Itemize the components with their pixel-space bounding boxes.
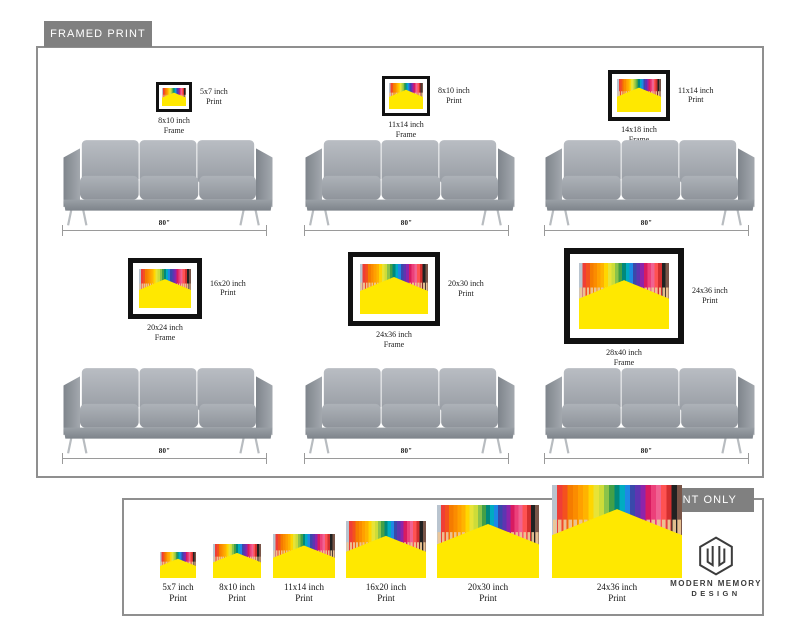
print-only-size-label: 8x10 inchPrint [219,582,255,604]
dimension-label: 80" [544,219,749,227]
frame-mat [353,257,435,321]
picture-frame [348,252,440,326]
print-size-label: 11x14 inchPrint [678,86,713,106]
print-size-label: 5x7 inchPrint [200,87,228,107]
sofa-width-dimension: 80" [544,224,749,236]
dimension-label: 80" [304,447,509,455]
frame-mat [133,263,197,314]
print-only-size-label: 5x7 inchPrint [162,582,193,604]
sofa-width-dimension: 80" [304,224,509,236]
artwork-colored-pencils [552,485,682,578]
picture-frame [608,70,670,121]
frame-mat [612,74,666,117]
dimension-label: 80" [304,219,509,227]
print-only-item[interactable]: 24x36 inchPrint [552,485,682,604]
dimension-label: 80" [544,447,749,455]
print-size-label: 8x10 inchPrint [438,86,470,106]
artwork-colored-pencils [139,269,191,308]
artwork-colored-pencils [389,83,423,109]
artwork-colored-pencils [346,521,426,578]
print-size-label: 16x20 inchPrint [210,279,246,299]
artwork-colored-pencils [617,79,661,112]
artwork-colored-pencils [579,263,669,329]
print-only-item[interactable]: 8x10 inchPrint [213,544,261,604]
print-only-item[interactable]: 11x14 inchPrint [273,534,335,604]
dimension-bar [62,230,267,231]
frame-mat [385,79,427,113]
print-only-item[interactable]: 5x7 inchPrint [160,552,196,604]
print-only-size-label: 16x20 inchPrint [366,582,406,604]
print-size-label: 24x36 inchPrint [692,286,728,306]
frame-size-label: 24x36 inchFrame [362,330,426,350]
print-only-item[interactable]: 20x30 inchPrint [437,505,539,604]
picture-frame [564,248,684,344]
artwork-colored-pencils [273,534,335,578]
framed-print-tab: FRAMED PRINT [44,21,152,47]
frame-mat [570,254,678,338]
print-only-item[interactable]: 16x20 inchPrint [346,521,426,604]
artwork-colored-pencils [437,505,539,578]
picture-frame [382,76,430,116]
dimension-label: 80" [62,447,267,455]
dimension-bar [544,458,749,459]
sofa-width-dimension: 80" [544,452,749,464]
print-only-size-label: 20x30 inchPrint [468,582,508,604]
artwork-colored-pencils [160,552,196,578]
picture-frame [156,82,192,112]
sofa-width-dimension: 80" [62,452,267,464]
hexagon-monogram-icon [696,536,736,576]
artwork-colored-pencils [213,544,261,578]
dimension-label: 80" [62,219,267,227]
sofa-width-dimension: 80" [304,452,509,464]
dimension-bar [544,230,749,231]
artwork-colored-pencils [162,88,186,106]
dimension-bar [304,458,509,459]
print-only-size-label: 24x36 inchPrint [597,582,637,604]
frame-mat [159,85,189,109]
dimension-bar [304,230,509,231]
picture-frame [128,258,202,319]
print-size-label: 20x30 inchPrint [448,279,484,299]
frame-size-label: 20x24 inchFrame [133,323,197,343]
artwork-colored-pencils [360,264,428,314]
dimension-bar [62,458,267,459]
print-only-size-label: 11x14 inchPrint [284,582,324,604]
sofa-width-dimension: 80" [62,224,267,236]
